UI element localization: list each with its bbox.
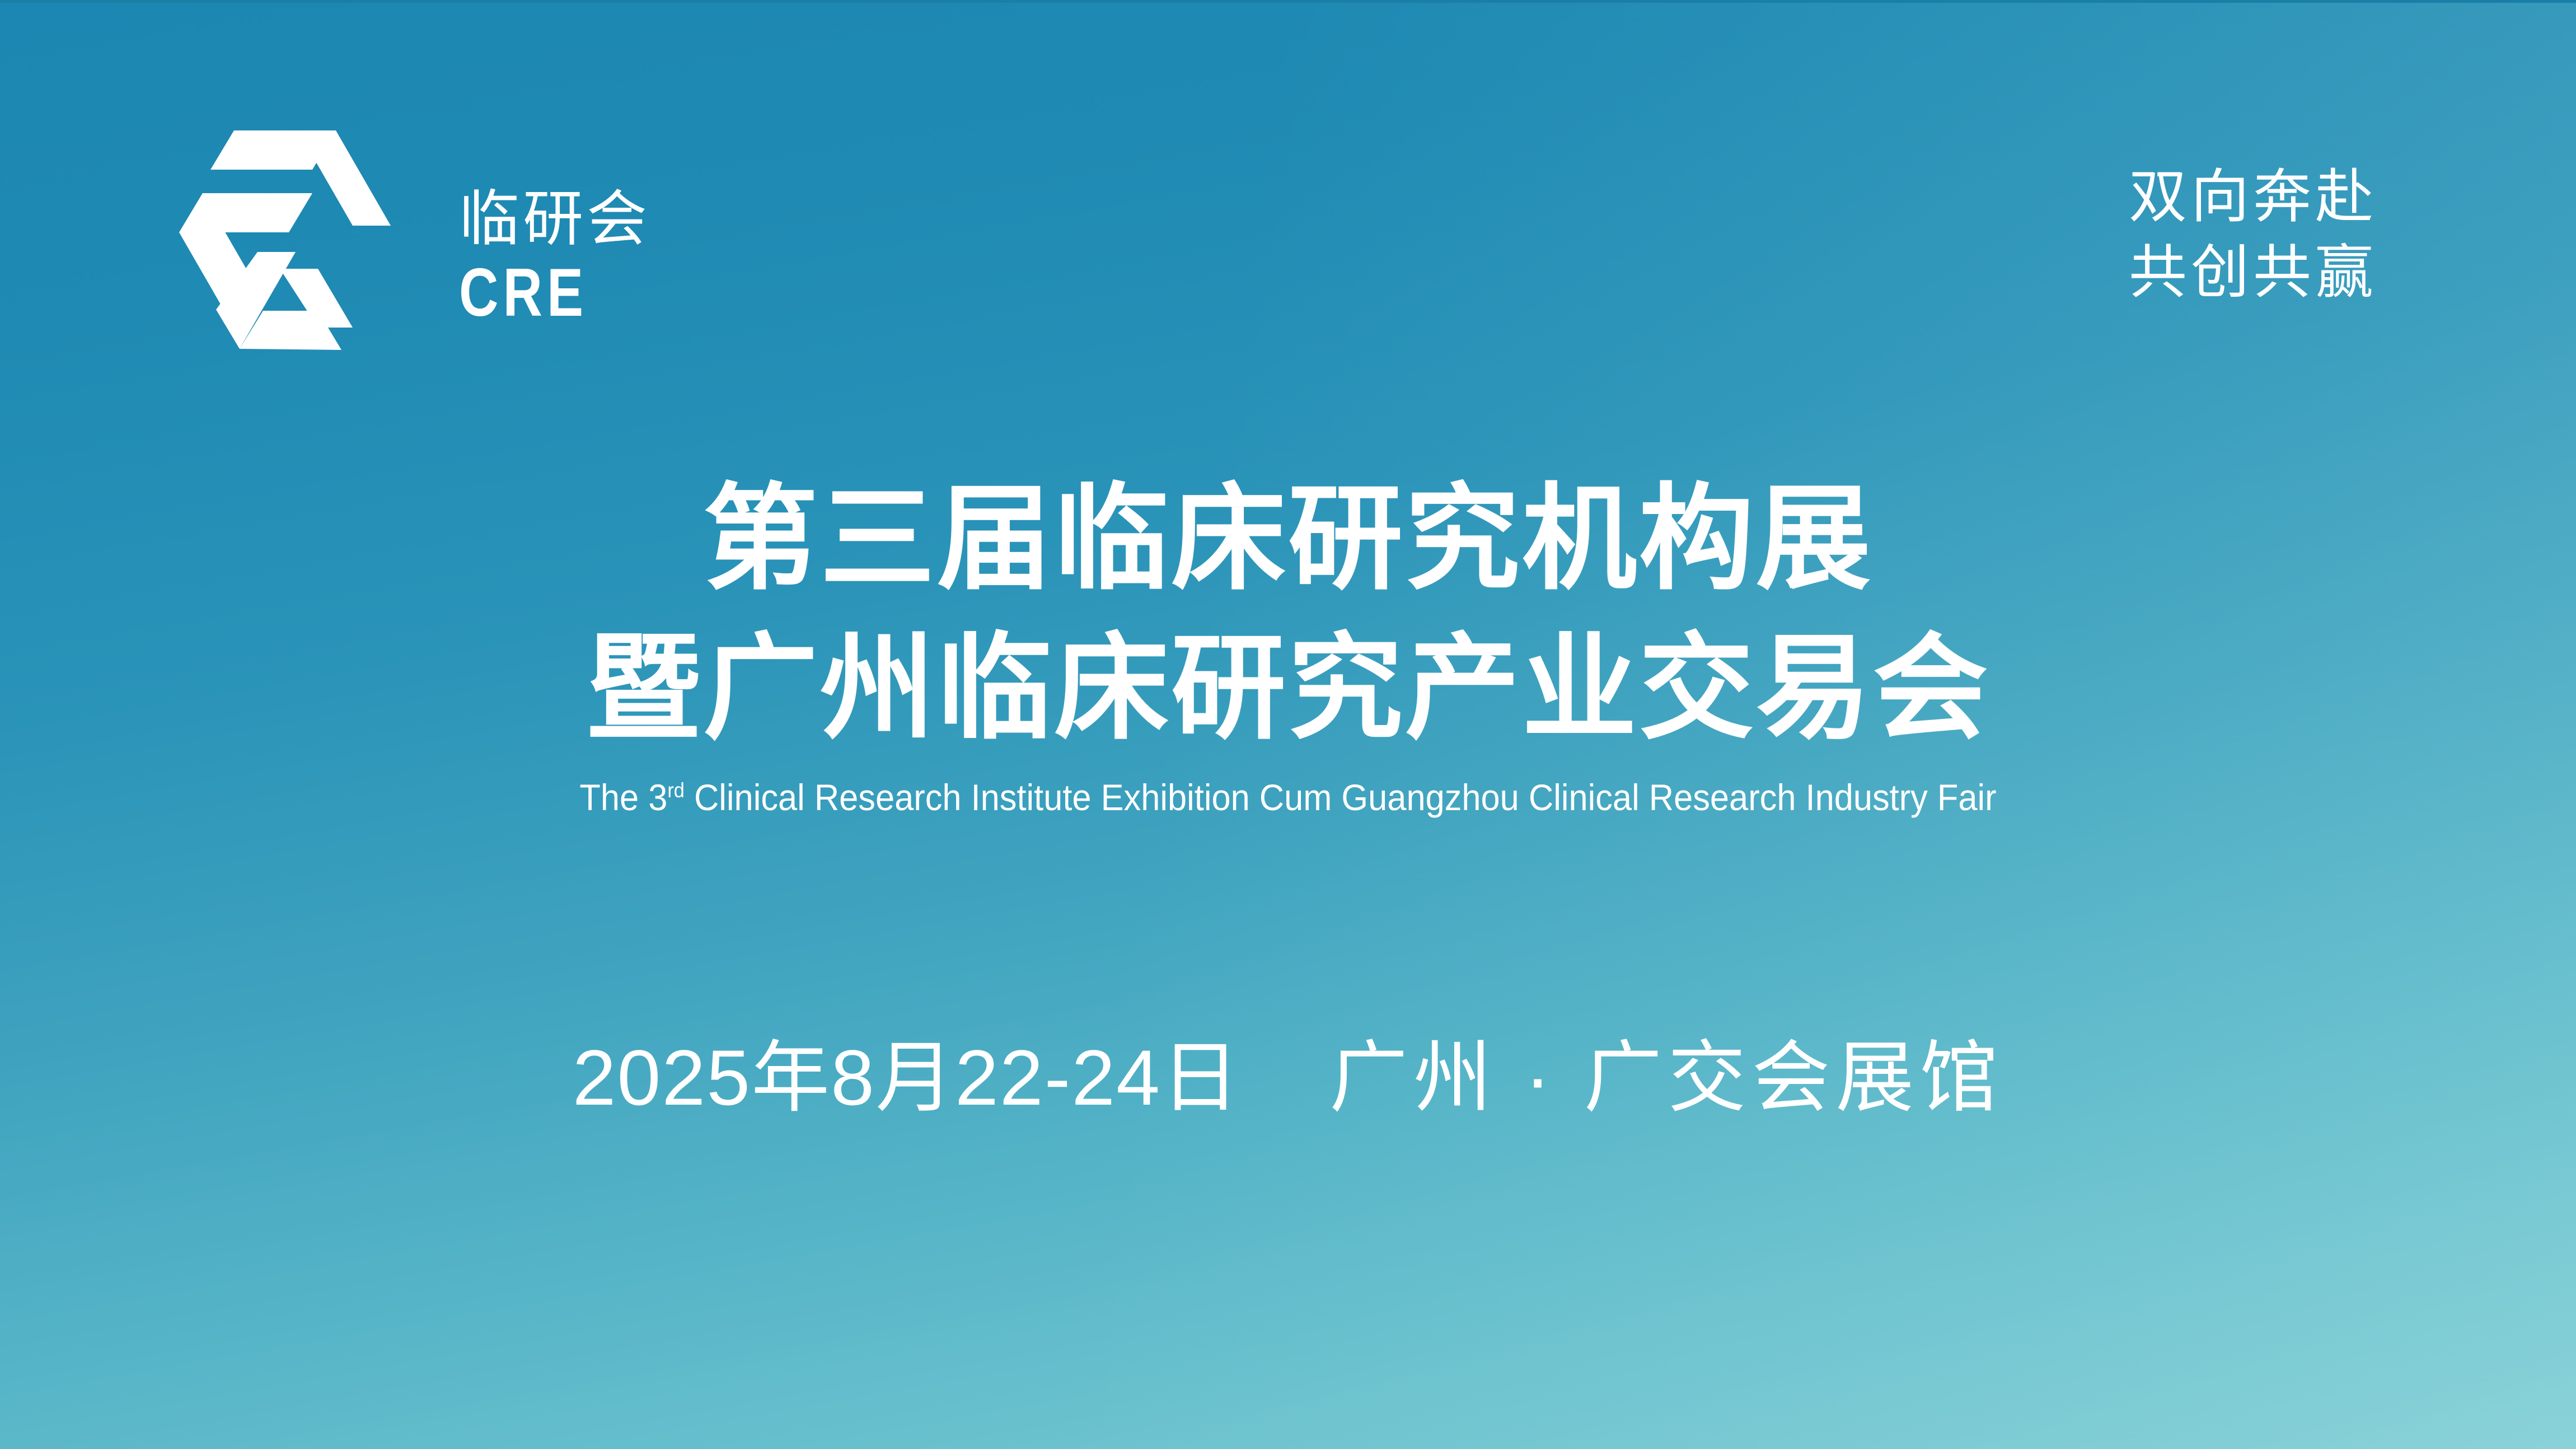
event-title-english: The 3rd Clinical Research Institute Exhi… <box>90 777 2486 819</box>
slogan-line-2: 共创共赢 <box>2129 235 2377 311</box>
event-banner: 临研会 CRE 双向奔赴 共创共赢 第三届临床研究机构展 暨广州临床研究产业交易… <box>0 0 2576 1449</box>
slogan: 双向奔赴 共创共赢 <box>2129 160 2377 311</box>
top-accent-strip <box>0 0 2576 3</box>
english-suffix: Clinical Research Institute Exhibition C… <box>685 777 1997 818</box>
event-meta-block: 2025年8月22-24日 广州 · 广交会展馆 <box>0 1025 2576 1130</box>
logo-abbreviation: CRE <box>459 258 692 326</box>
event-title-block: 第三届临床研究机构展 暨广州临床研究产业交易会 The 3rd Clinical… <box>0 465 2576 819</box>
logo-wordmark: 临研会 CRE <box>459 189 750 326</box>
logo-chinese-name: 临研会 <box>459 189 750 249</box>
event-title-line-1: 第三届临床研究机构展 <box>0 465 2576 614</box>
slogan-line-1: 双向奔赴 <box>2129 160 2377 235</box>
english-prefix: The 3 <box>579 777 667 818</box>
event-title-line-2: 暨广州临床研究产业交易会 <box>0 614 2576 764</box>
english-ordinal: rd <box>667 779 685 802</box>
brand-logo: 临研会 CRE <box>168 126 756 367</box>
event-venue: 广州 · 广交会展馆 <box>1329 1025 2003 1130</box>
event-date: 2025年8月22-24日 <box>573 1025 1240 1130</box>
cre-hexagon-arrow-mark-icon <box>168 126 409 367</box>
